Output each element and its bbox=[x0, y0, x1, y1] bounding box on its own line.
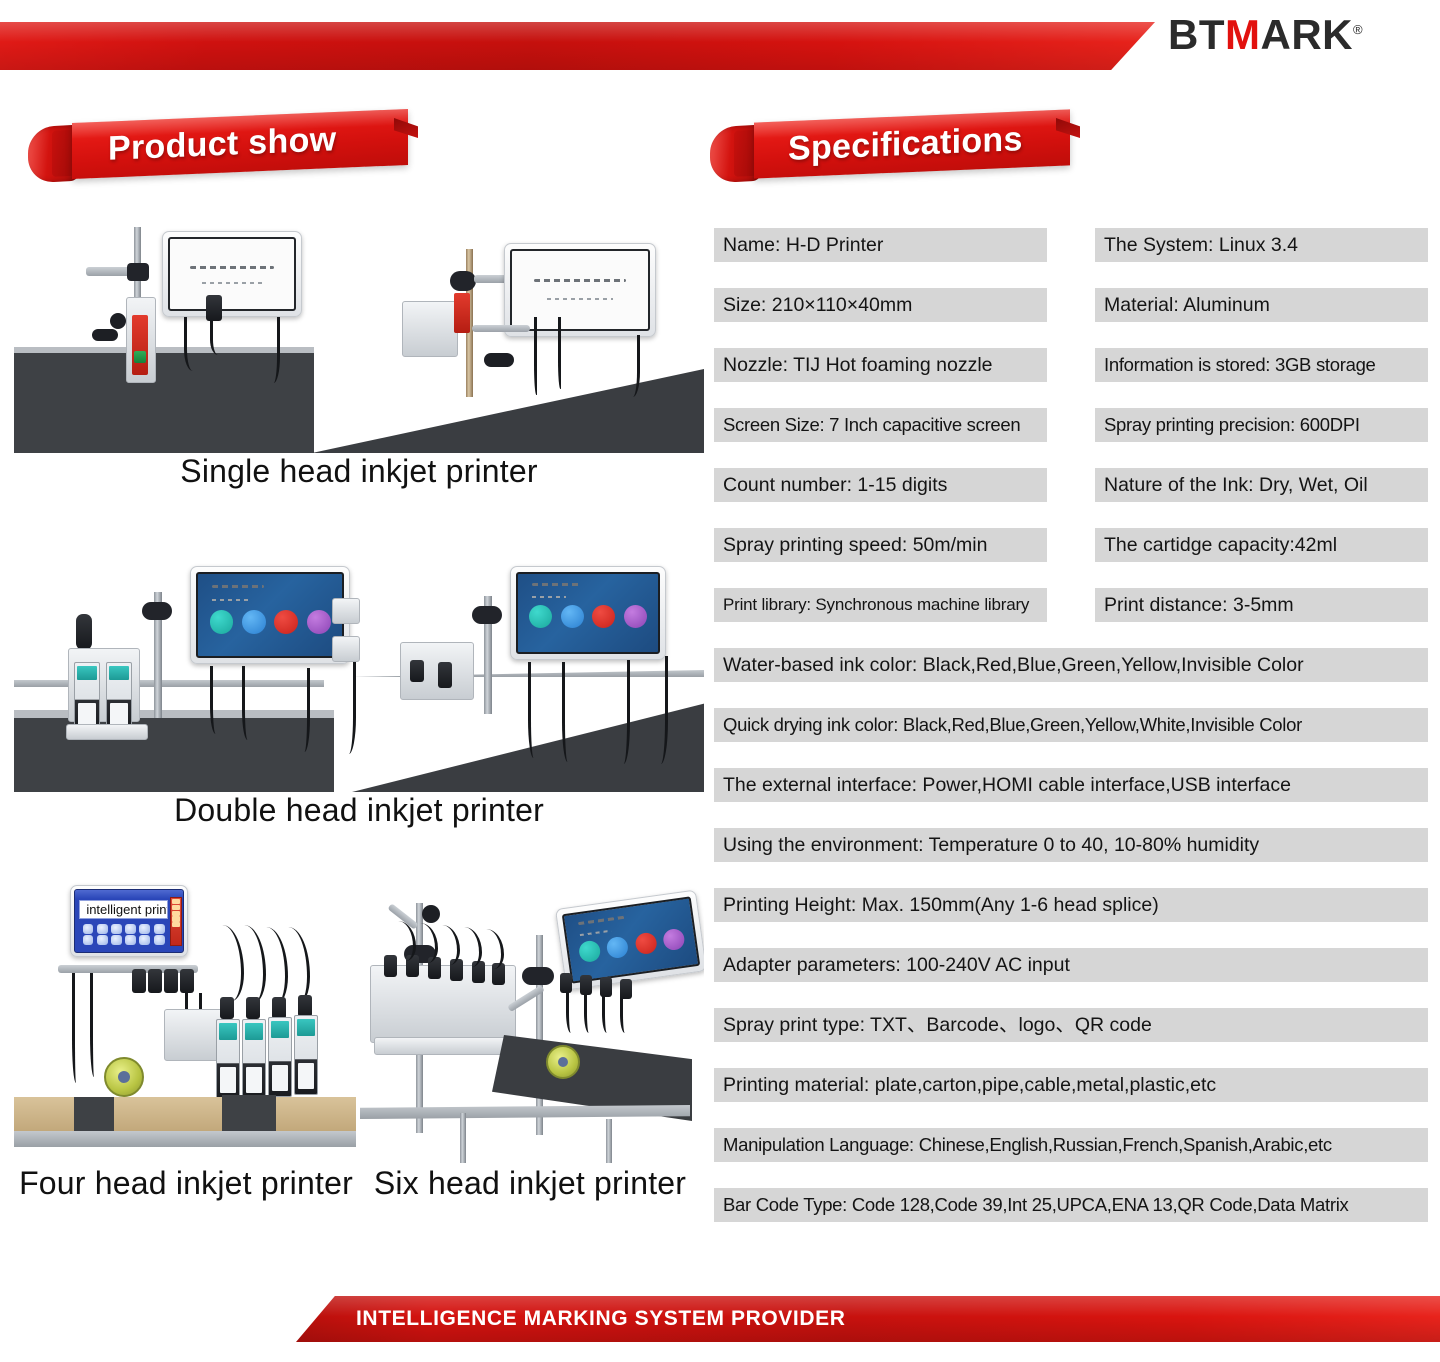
screen-text-field[interactable]: intelligent printer bbox=[79, 900, 168, 919]
page-footer: INTELLIGENCE MARKING SYSTEM PROVIDER bbox=[0, 1280, 1440, 1362]
adjust-handle bbox=[484, 353, 514, 367]
spec-row: Printing material: plate,carton,pipe,cab… bbox=[714, 1068, 1428, 1102]
ink-cartridge bbox=[106, 662, 132, 730]
cable bbox=[210, 666, 224, 734]
post-clamp bbox=[522, 967, 554, 985]
spec-row: Print library: Synchronous machine libra… bbox=[714, 588, 1047, 622]
photo-scene bbox=[14, 544, 704, 792]
post-clamp bbox=[472, 606, 502, 624]
cable bbox=[264, 317, 280, 383]
ink-cartridge bbox=[216, 1019, 240, 1099]
spec-row: Water-based ink color: Black,Red,Blue,Gr… bbox=[714, 648, 1428, 682]
post-clamp bbox=[450, 271, 476, 291]
cable bbox=[90, 973, 100, 1077]
product-show-title: Product show bbox=[108, 111, 336, 177]
nozzle-connector bbox=[272, 997, 286, 1019]
head-base bbox=[66, 724, 148, 740]
post-clamp bbox=[142, 602, 172, 620]
spec-row: Spray printing precision: 600DPI bbox=[1095, 408, 1428, 442]
controller-screen-single-left[interactable] bbox=[162, 231, 302, 317]
nozzle-connector bbox=[76, 614, 92, 650]
connector-block bbox=[332, 636, 360, 662]
controller-screen-double-right[interactable] bbox=[510, 566, 666, 660]
spec-row: Printing Height: Max. 150mm(Any 1-6 head… bbox=[714, 888, 1428, 922]
nozzle-connector bbox=[438, 662, 452, 688]
screen-button-config-icon[interactable] bbox=[662, 927, 686, 951]
spec-row: Nozzle: TIJ Hot foaming nozzle bbox=[714, 348, 1047, 382]
ink-cartridge bbox=[268, 1017, 292, 1097]
product-photo-row-multi-head: intelligent printer bbox=[14, 869, 704, 1165]
nozzle-connector bbox=[206, 295, 222, 321]
screen-button-edit-icon[interactable] bbox=[561, 605, 584, 628]
nozzle-connector bbox=[560, 973, 572, 993]
screen-display bbox=[516, 572, 660, 654]
conveyor-belt-edge bbox=[14, 710, 334, 718]
nozzle-connector bbox=[220, 997, 234, 1019]
post-clamp bbox=[127, 263, 149, 281]
screen-icon-grid[interactable] bbox=[79, 921, 168, 948]
cartridge-indicator bbox=[134, 351, 146, 363]
product-photo-four-head: intelligent printer bbox=[14, 869, 356, 1165]
brand-logo: BTMARK® bbox=[1168, 14, 1363, 56]
screen-grid-icon[interactable] bbox=[154, 924, 165, 934]
photo-scene: intelligent printer bbox=[14, 869, 356, 1165]
screen-grid-icon[interactable] bbox=[125, 924, 136, 934]
ink-cartridge bbox=[242, 1019, 266, 1099]
screen-grid-icon[interactable] bbox=[139, 924, 150, 934]
mounting-post bbox=[536, 935, 543, 1135]
conveyor-belt-gap bbox=[222, 1095, 276, 1131]
cable bbox=[72, 973, 82, 1083]
spec-row: Spray printing speed: 50m/min bbox=[714, 528, 1047, 562]
nozzle-connector bbox=[246, 997, 260, 1019]
nozzle-connector bbox=[600, 977, 612, 997]
spec-row: The external interface: Power,HOMI cable… bbox=[714, 768, 1428, 802]
nozzle-connector bbox=[164, 969, 178, 993]
spec-row: Print distance: 3-5mm bbox=[1095, 588, 1428, 622]
screen-display bbox=[168, 237, 296, 311]
screen-grid-icon[interactable] bbox=[83, 924, 94, 934]
spec-row: Adapter parameters: 100-240V AC input bbox=[714, 948, 1428, 982]
screen-button-config-icon[interactable] bbox=[624, 605, 647, 628]
screen-button-print-icon[interactable] bbox=[634, 931, 658, 955]
screen-button-edit-icon[interactable] bbox=[606, 935, 630, 959]
cable bbox=[210, 317, 230, 355]
screen-button-setup-icon[interactable] bbox=[529, 605, 552, 628]
specifications-table: Name: H-D Printer The System: Linux 3.4 … bbox=[714, 228, 1428, 1248]
page-header: BTMARK® bbox=[0, 0, 1440, 92]
screen-grid-icon[interactable] bbox=[97, 935, 108, 945]
cable bbox=[338, 662, 356, 754]
nozzle-connector bbox=[580, 975, 592, 995]
screen-button-setup-icon[interactable] bbox=[578, 939, 602, 963]
carton-on-conveyor bbox=[14, 1097, 356, 1131]
nozzle-connector bbox=[148, 969, 162, 993]
spec-row: Count number: 1-15 digits bbox=[714, 468, 1047, 502]
screen-grid-icon[interactable] bbox=[97, 924, 108, 934]
spec-row: Bar Code Type: Code 128,Code 39,Int 25,U… bbox=[714, 1188, 1428, 1222]
screen-button-print-icon[interactable] bbox=[274, 610, 298, 634]
adjust-handle bbox=[92, 329, 118, 341]
screen-grid-icon[interactable] bbox=[111, 935, 122, 945]
product-photo-double-head: Double head inkjet printer bbox=[14, 544, 704, 829]
adjust-knob bbox=[422, 905, 440, 923]
screen-grid-icon[interactable] bbox=[125, 935, 136, 945]
conveyor-rail bbox=[14, 680, 324, 687]
caption-row-multi-head: Four head inkjet printer Six head inkjet… bbox=[14, 1165, 704, 1202]
logo-accent-letter: M bbox=[1225, 11, 1261, 58]
cable bbox=[476, 929, 504, 969]
product-show-ribbon: Product show bbox=[28, 116, 448, 182]
connector-block bbox=[332, 598, 360, 624]
conveyor-leg bbox=[460, 1113, 466, 1163]
screen-display: intelligent printer bbox=[74, 889, 184, 953]
controller-screen-four-head[interactable]: intelligent printer bbox=[70, 885, 188, 957]
screen-action-buttons[interactable] bbox=[529, 605, 647, 628]
product-show-column: Single head inkjet printer bbox=[14, 205, 704, 1202]
screen-title-bar bbox=[75, 890, 183, 899]
specifications-title: Specifications bbox=[788, 111, 1023, 177]
screen-button-config-icon[interactable] bbox=[307, 610, 331, 634]
nozzle-connector bbox=[298, 995, 312, 1017]
spec-row: Using the environment: Temperature 0 to … bbox=[714, 828, 1428, 862]
spec-row: Name: H-D Printer bbox=[714, 228, 1047, 262]
ink-cartridge-red bbox=[454, 293, 470, 333]
spec-row: Material: Aluminum bbox=[1095, 288, 1428, 322]
screen-grid-icon[interactable] bbox=[154, 935, 165, 945]
cable bbox=[242, 666, 256, 740]
logo-suffix: ARK bbox=[1261, 11, 1354, 58]
guide-roller bbox=[546, 1045, 580, 1079]
screen-action-buttons[interactable] bbox=[210, 610, 331, 634]
nozzle-connector bbox=[410, 660, 424, 682]
print-head-body bbox=[402, 301, 458, 357]
spec-row: The cartidge capacity:42ml bbox=[1095, 528, 1428, 562]
conveyor-belt-gap bbox=[74, 1097, 114, 1131]
screen-display bbox=[562, 896, 700, 983]
guide-roller bbox=[104, 1057, 144, 1097]
cable bbox=[558, 317, 564, 389]
photo-scene bbox=[360, 869, 704, 1165]
adjust-knob bbox=[110, 313, 126, 329]
cable bbox=[614, 660, 630, 764]
spec-row: Nature of the Ink: Dry, Wet, Oil bbox=[1095, 468, 1428, 502]
spec-row: Size: 210×110×40mm bbox=[714, 288, 1047, 322]
screen-button-edit-icon[interactable] bbox=[242, 610, 266, 634]
screen-grid-icon[interactable] bbox=[111, 924, 122, 934]
nozzle-connector bbox=[132, 969, 146, 993]
logo-prefix: BT bbox=[1168, 11, 1225, 58]
controller-screen-single-right[interactable] bbox=[504, 243, 656, 337]
ink-cartridge bbox=[294, 1015, 318, 1095]
ink-cartridge-red bbox=[132, 315, 148, 375]
screen-display bbox=[510, 249, 650, 331]
screen-display bbox=[196, 572, 344, 658]
cable bbox=[184, 317, 206, 371]
screen-button-print-icon[interactable] bbox=[592, 605, 615, 628]
cable bbox=[276, 927, 310, 1005]
screen-grid-icon[interactable] bbox=[83, 935, 94, 945]
conveyor-left bbox=[14, 716, 334, 792]
screen-side-toolbar[interactable] bbox=[170, 897, 182, 945]
screen-grid-icon[interactable] bbox=[139, 935, 150, 945]
support-arm bbox=[472, 325, 530, 332]
conveyor-frame bbox=[360, 1105, 690, 1119]
spec-row: Screen Size: 7 Inch capacitive screen bbox=[714, 408, 1047, 442]
screen-button-setup-icon[interactable] bbox=[210, 610, 234, 634]
manifold-base bbox=[374, 1037, 520, 1055]
spec-row: The System: Linux 3.4 bbox=[1095, 228, 1428, 262]
caption-six-head: Six head inkjet printer bbox=[358, 1165, 702, 1202]
header-red-banner bbox=[0, 22, 1155, 70]
photo-scene bbox=[14, 205, 704, 453]
cable bbox=[296, 668, 310, 752]
nozzle-connector bbox=[180, 969, 194, 993]
nozzle-connector bbox=[620, 979, 632, 999]
caption-double-head: Double head inkjet printer bbox=[14, 792, 704, 829]
spec-row: Spray print type: TXT、Barcode、logo、QR co… bbox=[714, 1008, 1428, 1042]
controller-screen-six-head[interactable] bbox=[555, 890, 704, 991]
spec-row: Manipulation Language: Chinese,English,R… bbox=[714, 1128, 1428, 1162]
product-photo-six-head bbox=[360, 869, 704, 1165]
specifications-column: Name: H-D Printer The System: Linux 3.4 … bbox=[714, 228, 1428, 1248]
cable bbox=[562, 662, 576, 762]
spec-row: Information is stored: 3GB storage bbox=[1095, 348, 1428, 382]
caption-four-head: Four head inkjet printer bbox=[14, 1165, 358, 1202]
product-photo-single-head: Single head inkjet printer bbox=[14, 205, 704, 490]
cable bbox=[534, 317, 540, 395]
cable bbox=[650, 656, 668, 764]
conveyor-leg bbox=[606, 1119, 612, 1163]
conveyor-right bbox=[312, 353, 704, 453]
controller-screen-double-left[interactable] bbox=[190, 566, 350, 664]
trademark-symbol: ® bbox=[1353, 22, 1363, 37]
conveyor-frame bbox=[14, 1131, 356, 1147]
spec-row: Quick drying ink color: Black,Red,Blue,G… bbox=[714, 708, 1428, 742]
caption-single-head: Single head inkjet printer bbox=[14, 453, 704, 490]
cable bbox=[528, 662, 542, 758]
ink-cartridge bbox=[74, 662, 100, 730]
footer-tagline: INTELLIGENCE MARKING SYSTEM PROVIDER bbox=[356, 1296, 845, 1342]
cable bbox=[622, 335, 640, 397]
specifications-ribbon: Specifications bbox=[710, 116, 1110, 182]
